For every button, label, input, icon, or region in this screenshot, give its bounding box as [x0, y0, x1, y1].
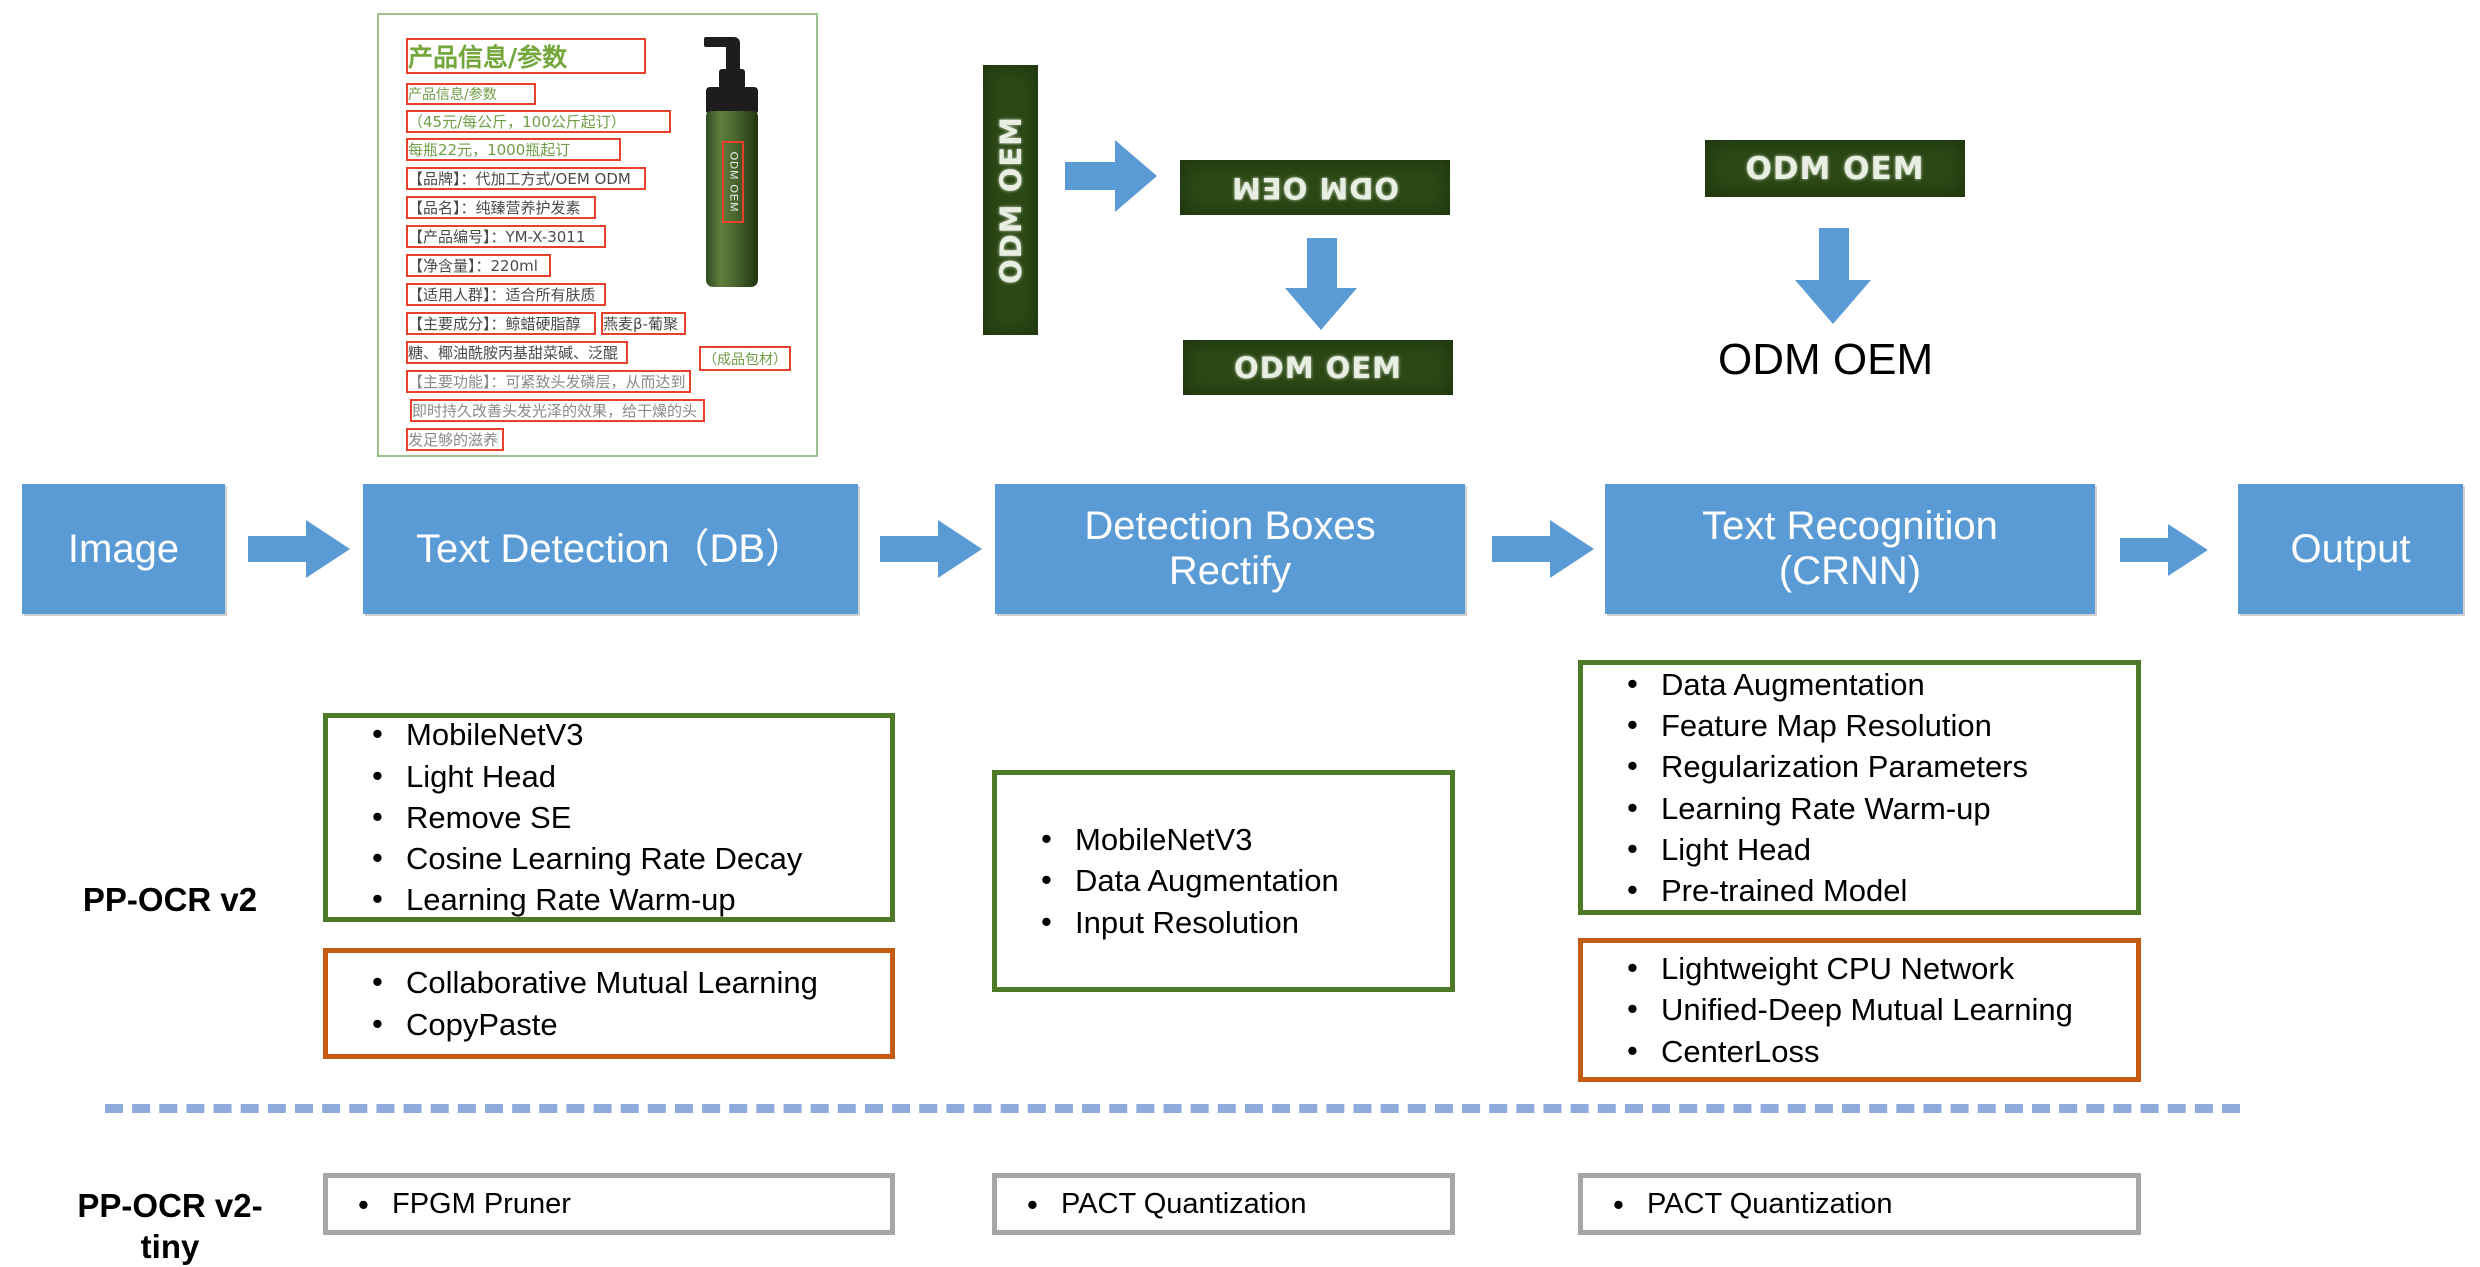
sample-product-image: 产品信息/参数 产品信息/参数 （45元/每公斤，100公斤起订） 每瓶22元，… — [377, 13, 818, 457]
list-item: CenterLoss — [1627, 1031, 2136, 1072]
v2tiny-recognition-box: PACT Quantization — [1578, 1173, 2141, 1235]
v2-recognition-green-box: Data Augmentation Feature Map Resolution… — [1578, 660, 2141, 915]
bullet-list: Data Augmentation Feature Map Resolution… — [1583, 664, 2136, 911]
detection-box: 【净含量】：220ml — [406, 254, 551, 277]
detection-box: 【品牌】：代加工方式/OEM ODM — [406, 167, 646, 190]
pipeline-stage-label: Output — [2290, 527, 2410, 572]
bullet-list: PACT Quantization — [1583, 1185, 2136, 1224]
list-item: MobileNetV3 — [1041, 819, 1450, 860]
list-item: Data Augmentation — [1627, 664, 2136, 705]
detection-box: 【品名】：纯臻营养护发素 — [406, 196, 596, 219]
v2-rectify-green-box: MobileNetV3 Data Augmentation Input Reso… — [992, 770, 1455, 992]
pipeline-stage-text-recognition[interactable]: Text Recognition (CRNN) — [1605, 484, 2095, 614]
detection-box: 即时持久改善头发光泽的效果，给干燥的头 — [410, 399, 705, 422]
pipeline-stage-label: Image — [68, 527, 179, 572]
v2-detection-orange-box: Collaborative Mutual Learning CopyPaste — [323, 948, 895, 1059]
bottle-shoulder-icon — [706, 87, 758, 113]
list-item: Feature Map Resolution — [1627, 705, 2136, 746]
detection-box: （45元/每公斤，100公斤起订） — [406, 110, 671, 133]
recognition-input-crop: ODM OEM — [1705, 140, 1965, 197]
v2tiny-detection-box: FPGM Pruner — [323, 1173, 895, 1235]
list-item: Lightweight CPU Network — [1627, 948, 2136, 989]
pipeline-stage-image[interactable]: Image — [22, 484, 225, 614]
list-item: Unified-Deep Mutual Learning — [1627, 989, 2136, 1030]
arrow-down-icon — [1285, 238, 1357, 330]
list-item: FPGM Pruner — [358, 1185, 890, 1224]
bullet-list: Collaborative Mutual Learning CopyPaste — [328, 962, 890, 1044]
bottle-neck-icon — [719, 69, 745, 89]
bottle-label: ODM OEM — [722, 141, 744, 223]
pipeline-stage-text-detection[interactable]: Text Detection（DB） — [363, 484, 858, 614]
list-item: Collaborative Mutual Learning — [372, 962, 890, 1003]
row-label-pp-ocr-v2-tiny: PP-OCR v2- tiny — [35, 1146, 305, 1267]
pipeline-stage-label: Text Detection（DB） — [416, 527, 805, 572]
recognition-output-text: ODM OEM — [1718, 335, 2018, 387]
rectify-input-crop: ODM OEM — [983, 65, 1038, 335]
list-item: Remove SE — [372, 797, 890, 838]
pipeline-stage-detection-boxes-rectify[interactable]: Detection Boxes Rectify — [995, 484, 1465, 614]
bullet-list: Lightweight CPU Network Unified-Deep Mut… — [1583, 948, 2136, 1072]
diagram-canvas: 产品信息/参数 产品信息/参数 （45元/每公斤，100公斤起订） 每瓶22元，… — [0, 0, 2480, 1262]
bottle-pump-icon — [726, 37, 740, 71]
v2-recognition-orange-box: Lightweight CPU Network Unified-Deep Mut… — [1578, 938, 2141, 1082]
detection-box: 燕麦β-葡聚 — [601, 312, 686, 335]
detection-box: 糖、椰油酰胺丙基甜菜碱、泛醌 — [406, 341, 628, 364]
arrow-right-icon — [248, 520, 352, 578]
bottle-label-text: ODM OEM — [727, 152, 739, 213]
detection-box: 产品信息/参数 — [406, 83, 536, 105]
list-item: CopyPaste — [372, 1004, 890, 1045]
list-item: Pre-trained Model — [1627, 870, 2136, 911]
arrow-down-icon — [1795, 228, 1871, 324]
list-item: Data Augmentation — [1041, 860, 1450, 901]
arrow-right-icon — [2120, 524, 2212, 576]
list-item: Learning Rate Warm-up — [1627, 788, 2136, 829]
detection-box: 产品信息/参数 — [406, 38, 646, 74]
row-label-pp-ocr-v2: PP-OCR v2 — [35, 880, 305, 920]
v2tiny-rectify-box: PACT Quantization — [992, 1173, 1455, 1235]
list-item: Input Resolution — [1041, 902, 1450, 943]
arrow-right-icon — [1492, 520, 1596, 578]
list-item: MobileNetV3 — [372, 714, 890, 755]
detection-box: 每瓶22元，1000瓶起订 — [406, 138, 621, 161]
detection-box: 【产品编号】：YM-X-3011 — [406, 225, 606, 248]
arrow-right-icon — [1065, 140, 1155, 212]
bullet-list: MobileNetV3 Light Head Remove SE Cosine … — [328, 714, 890, 920]
list-item: Light Head — [1627, 829, 2136, 870]
bullet-list: FPGM Pruner — [328, 1185, 890, 1224]
section-divider — [105, 1104, 2240, 1113]
detection-box: 发足够的滋养 — [406, 428, 504, 451]
v2-detection-green-box: MobileNetV3 Light Head Remove SE Cosine … — [323, 713, 895, 922]
pipeline-stage-output[interactable]: Output — [2238, 484, 2463, 614]
pipeline-stage-label: Detection Boxes Rectify — [1084, 504, 1375, 594]
list-item: Cosine Learning Rate Decay — [372, 838, 890, 879]
detection-box: （成品包材） — [699, 346, 791, 371]
list-item: Light Head — [372, 756, 890, 797]
bullet-list: MobileNetV3 Data Augmentation Input Reso… — [997, 819, 1450, 943]
bullet-list: PACT Quantization — [997, 1185, 1450, 1224]
arrow-right-icon — [880, 520, 984, 578]
list-item: PACT Quantization — [1027, 1185, 1450, 1224]
detection-box: 【适用人群】：适合所有肤质 — [406, 283, 606, 306]
list-item: Regularization Parameters — [1627, 746, 2136, 787]
list-item: Learning Rate Warm-up — [372, 879, 890, 920]
pipeline-stage-label: Text Recognition (CRNN) — [1702, 504, 1998, 594]
list-item: PACT Quantization — [1613, 1185, 2136, 1224]
detection-box: 【主要成分】：鲸蜡硬脂醇 — [406, 312, 596, 335]
rectify-output-crop: ODM OEM — [1183, 340, 1453, 395]
rectify-rotated-crop: ODM OEM — [1180, 160, 1450, 215]
detection-box: 【主要功能】：可紧致头发磷层，从而达到 — [406, 370, 691, 393]
